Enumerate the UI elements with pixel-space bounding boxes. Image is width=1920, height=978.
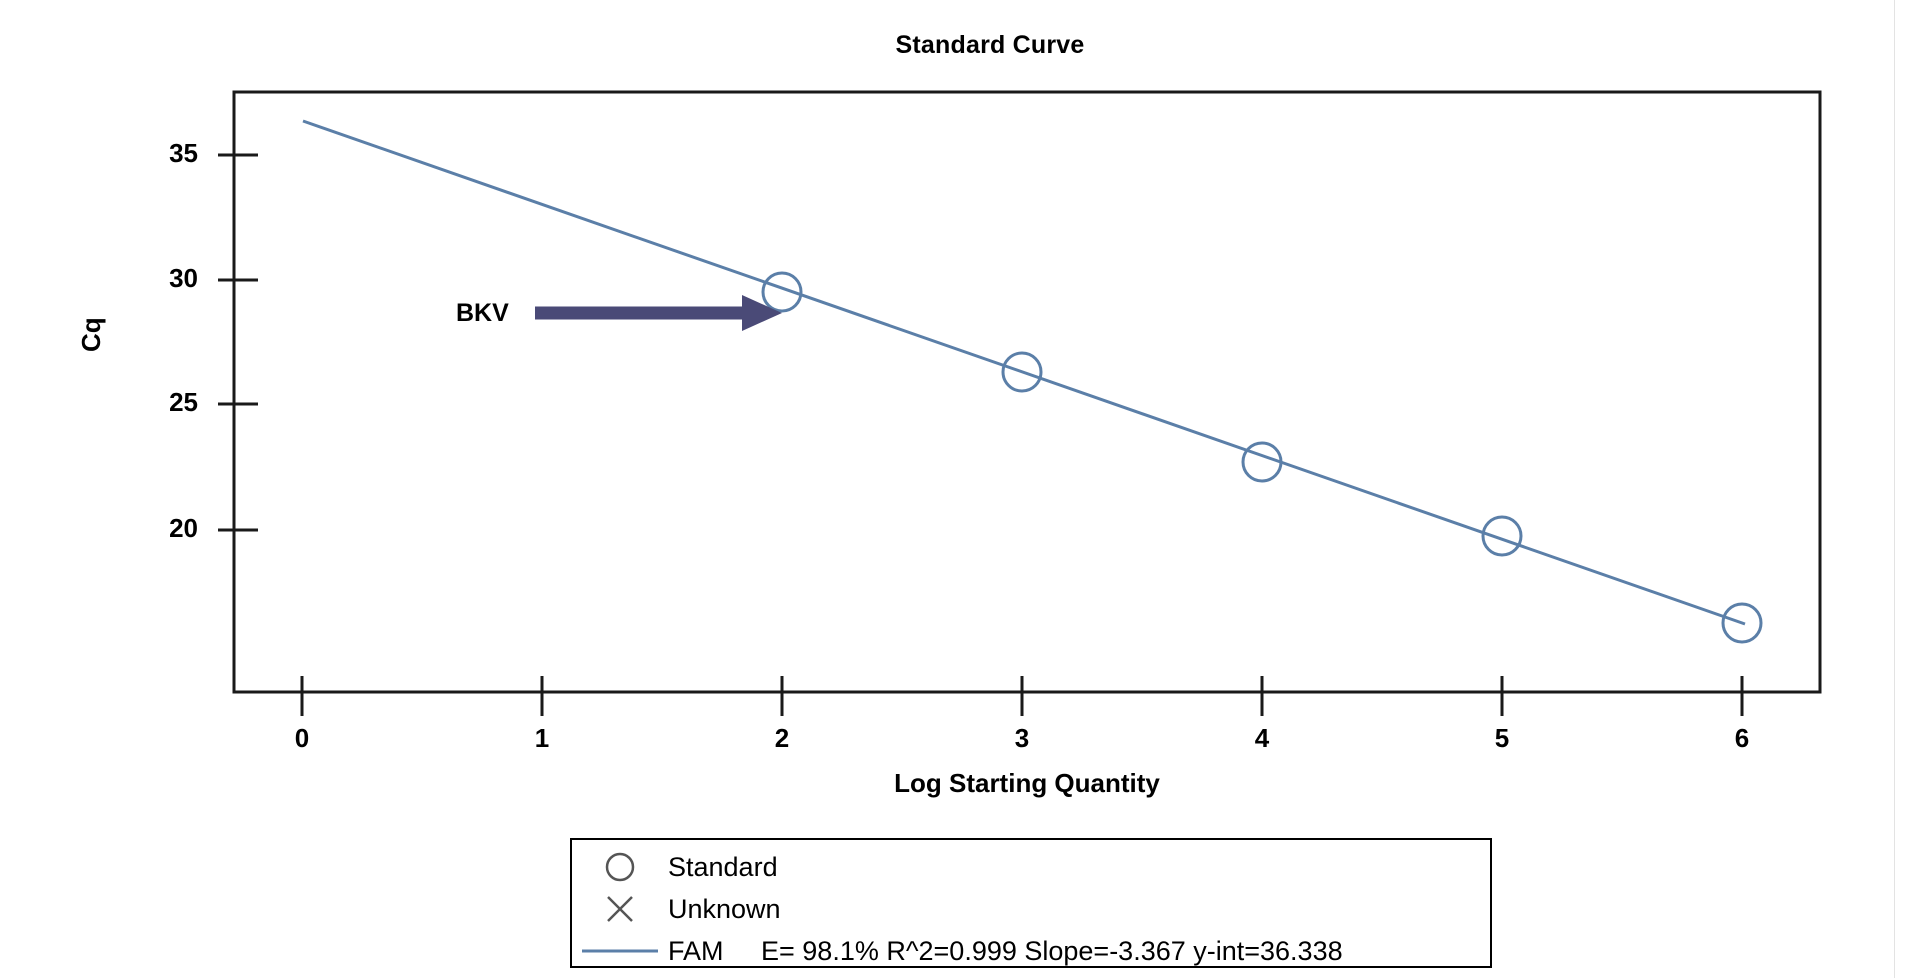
standard-data-points	[763, 273, 1761, 642]
regression-line-fam	[303, 121, 1745, 624]
x-tick-label: 2	[752, 723, 812, 754]
data-point	[1243, 443, 1281, 481]
legend-item-unknown: Unknown	[572, 888, 1490, 930]
plot-area: Cq 35 30 25 20 0 1 2 3 4 5 6 Log Startin…	[0, 0, 1920, 978]
y-tick-label: 30	[128, 263, 198, 294]
legend-label-standard: Standard	[668, 852, 778, 883]
bkv-annotation-arrow	[535, 295, 782, 331]
open-circle-icon	[572, 850, 668, 884]
x-tick-label: 4	[1232, 723, 1292, 754]
y-axis-title: Cq	[76, 317, 107, 352]
legend-item-fam: FAM E= 98.1% R^2=0.999 Slope=-3.367 y-in…	[572, 930, 1490, 972]
y-tick-label: 25	[128, 387, 198, 418]
plot-svg	[0, 0, 1920, 978]
x-tick-label: 0	[272, 723, 332, 754]
x-tick-label: 6	[1712, 723, 1772, 754]
x-axis-title: Log Starting Quantity	[234, 768, 1820, 799]
x-tick-label: 5	[1472, 723, 1532, 754]
line-sample-icon	[572, 943, 668, 959]
legend-label-unknown: Unknown	[668, 894, 781, 925]
legend-item-standard: Standard	[572, 846, 1490, 888]
x-tick-label: 3	[992, 723, 1052, 754]
x-mark-icon	[572, 892, 668, 926]
chart-legend: Standard Unknown FAM E= 98.1% R^2=0.999 …	[570, 838, 1492, 968]
bkv-annotation-label: BKV	[456, 299, 509, 328]
y-tick-label: 35	[128, 138, 198, 169]
legend-label-fam: FAM E= 98.1% R^2=0.999 Slope=-3.367 y-in…	[668, 936, 1343, 967]
x-tick-label: 1	[512, 723, 572, 754]
x-axis-ticks	[302, 676, 1742, 716]
chart-canvas: Standard Curve	[0, 0, 1920, 978]
y-axis-ticks	[218, 155, 258, 530]
y-tick-label: 20	[128, 513, 198, 544]
axis-frame	[234, 92, 1820, 692]
